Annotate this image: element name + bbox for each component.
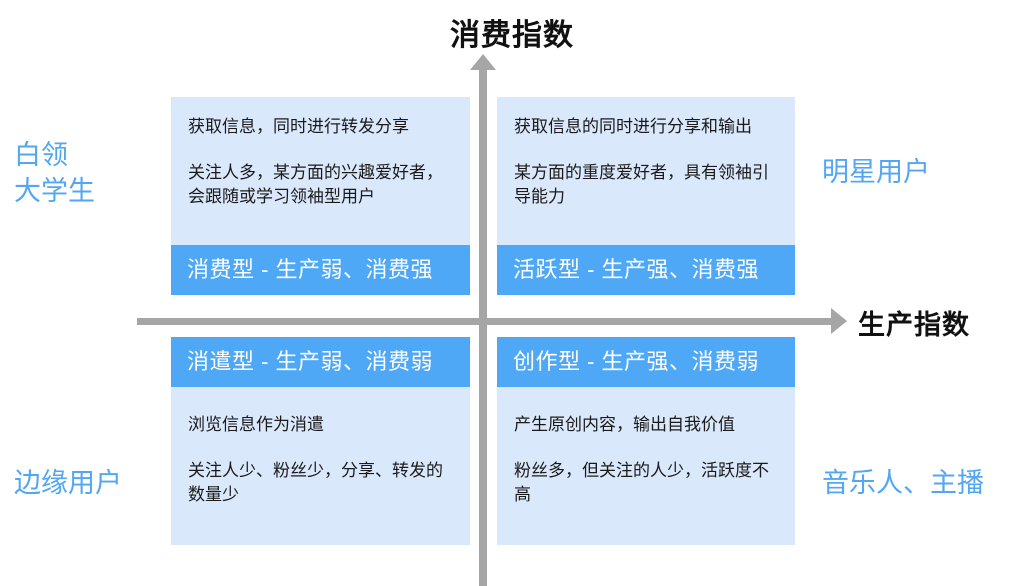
- quadrant-bottom-left-band: 消遣型 - 生产弱、消费弱: [171, 337, 470, 387]
- quadrant-bottom-right-band: 创作型 - 生产强、消费弱: [497, 337, 795, 387]
- quadrant-top-right: 获取信息的同时进行分享和输出 某方面的重度爱好者，具有领袖引导能力 活跃型 - …: [497, 97, 795, 295]
- persona-label-top-left-line-2: 大学生: [14, 174, 95, 210]
- quadrant-top-right-body: 获取信息的同时进行分享和输出 某方面的重度爱好者，具有领袖引导能力: [497, 97, 795, 245]
- quadrant-bottom-left-line-2: 关注人少、粉丝少，分享、转发的数量少: [188, 459, 453, 507]
- persona-label-top-right-line-1: 明星用户: [822, 155, 930, 191]
- y-axis-arrow-icon: [470, 54, 496, 70]
- quadrant-top-left-band: 消费型 - 生产弱、消费强: [171, 245, 470, 295]
- x-axis-title: 生产指数: [858, 303, 970, 342]
- persona-label-bottom-left: 边缘用户: [14, 466, 122, 502]
- quadrant-top-right-band: 活跃型 - 生产强、消费强: [497, 245, 795, 295]
- quadrant-top-right-line-2: 某方面的重度爱好者，具有领袖引导能力: [514, 161, 778, 209]
- x-axis-arrow-icon: [831, 308, 847, 334]
- persona-label-top-left-line-1: 白领: [14, 138, 95, 174]
- persona-label-bottom-left-line-1: 边缘用户: [14, 466, 122, 502]
- quadrant-bottom-right-line-2: 粉丝多，但关注的人少，活跃度不高: [514, 459, 778, 507]
- quadrant-bottom-left-line-1: 浏览信息作为消遣: [188, 413, 453, 437]
- persona-label-bottom-right: 音乐人、主播: [822, 466, 984, 502]
- quadrant-bottom-right: 创作型 - 生产强、消费弱 产生原创内容，输出自我价值 粉丝多，但关注的人少，活…: [497, 337, 795, 545]
- persona-label-top-right: 明星用户: [822, 155, 930, 191]
- y-axis-line: [479, 68, 487, 586]
- persona-label-bottom-right-line-1: 音乐人、主播: [822, 466, 984, 502]
- quadrant-bottom-left: 消遣型 - 生产弱、消费弱 浏览信息作为消遣 关注人少、粉丝少，分享、转发的数量…: [171, 337, 470, 545]
- x-axis-line: [137, 318, 839, 325]
- quadrant-bottom-left-body: 浏览信息作为消遣 关注人少、粉丝少，分享、转发的数量少: [171, 387, 470, 545]
- quadrant-top-left-line-1: 获取信息，同时进行转发分享: [188, 115, 453, 139]
- persona-label-top-left: 白领 大学生: [14, 138, 95, 210]
- quadrant-top-left-body: 获取信息，同时进行转发分享 关注人多，某方面的兴趣爱好者，会跟随或学习领袖型用户: [171, 97, 470, 245]
- quadrant-top-left-line-2: 关注人多，某方面的兴趣爱好者，会跟随或学习领袖型用户: [188, 161, 453, 209]
- quadrant-bottom-right-line-1: 产生原创内容，输出自我价值: [514, 413, 778, 437]
- quadrant-bottom-right-body: 产生原创内容，输出自我价值 粉丝多，但关注的人少，活跃度不高: [497, 387, 795, 545]
- quadrant-top-right-line-1: 获取信息的同时进行分享和输出: [514, 115, 778, 139]
- quadrant-top-left: 获取信息，同时进行转发分享 关注人多，某方面的兴趣爱好者，会跟随或学习领袖型用户…: [171, 97, 470, 295]
- y-axis-title: 消费指数: [0, 10, 1024, 54]
